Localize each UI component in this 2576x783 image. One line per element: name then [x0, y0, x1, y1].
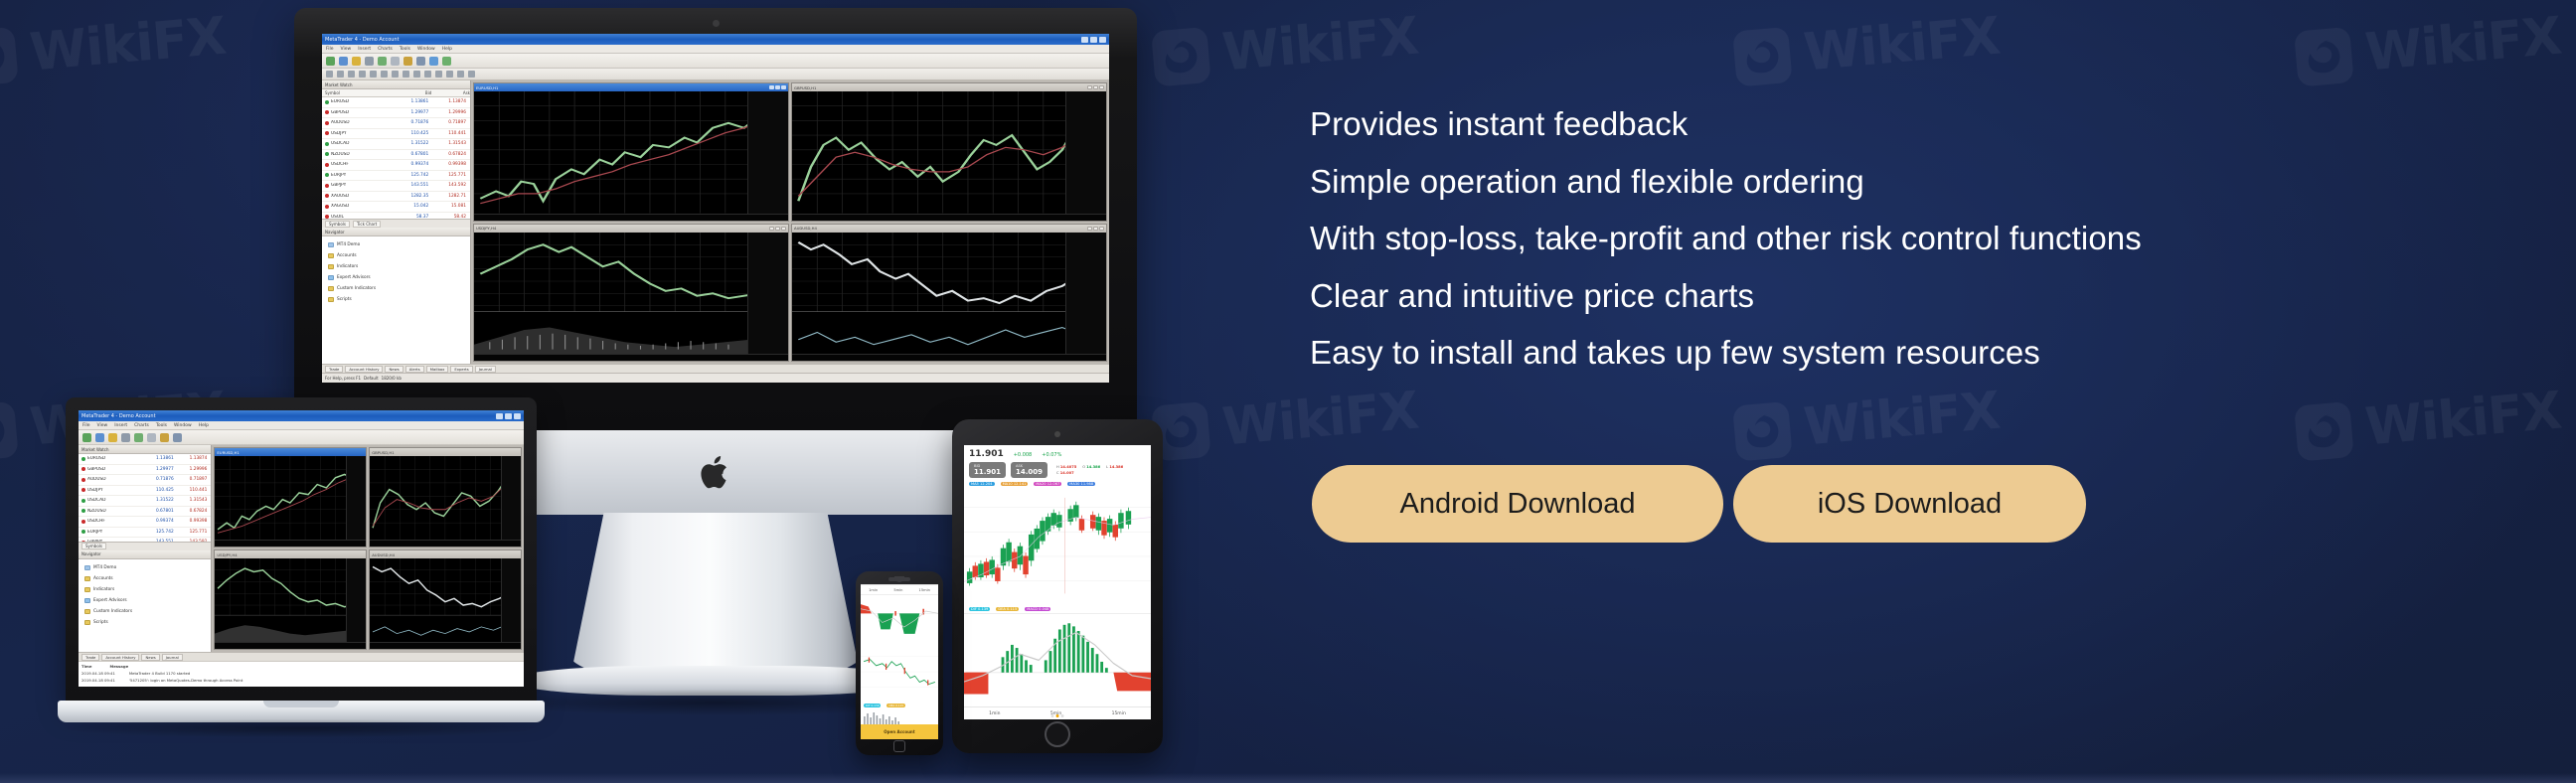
ma30-badge: MA30 11.988: [1067, 482, 1095, 486]
mobile-trading-app: 11.901 +0.008 +0.07% BID 11.901 A: [964, 445, 1151, 719]
nav-label: Indicators: [93, 587, 114, 592]
bid-cell: 1.31522: [142, 498, 177, 503]
window-controls[interactable]: [496, 413, 521, 419]
tab-journal[interactable]: Journal: [162, 654, 183, 661]
dot-active: [1056, 714, 1059, 717]
table-row[interactable]: XAGUSD15.04215.081: [322, 202, 470, 213]
status-profile: Default: [364, 376, 379, 381]
change-percent: +0.07%: [1042, 452, 1061, 458]
tab-account-history[interactable]: Account History: [345, 366, 383, 373]
watermark-tile: WikiFX: [2294, 6, 2563, 88]
tab-account-history[interactable]: Account History: [101, 654, 139, 661]
chart-title-bar[interactable]: USDJPY,H4: [474, 225, 788, 233]
candle-chart-icon[interactable]: [424, 71, 431, 78]
chart-title: GBPUSD,H1: [794, 85, 816, 90]
tablet-screen: 11.901 +0.008 +0.07% BID 11.901 A: [964, 445, 1151, 719]
menu-item-help[interactable]: Help: [442, 47, 452, 52]
chart-title: USDJPY,H4: [476, 226, 496, 231]
ask-cell: 1.29996: [431, 110, 470, 115]
tab-journal[interactable]: Journal: [475, 366, 496, 373]
bid-cell: 1282.35: [394, 194, 432, 199]
maximize-icon[interactable]: [1090, 37, 1097, 43]
market-watch-tabs[interactable]: Symbols: [79, 542, 211, 550]
new-order-icon[interactable]: [82, 433, 91, 442]
autotrading-icon[interactable]: [108, 433, 117, 442]
tab-trade[interactable]: Trade: [325, 366, 343, 373]
ask-cell: 0.99398: [177, 519, 212, 524]
menu-item-charts[interactable]: Charts: [134, 423, 149, 428]
nav-label: Custom Indicators: [93, 609, 132, 614]
table-row[interactable]: EURUSD1.138611.13874: [79, 454, 211, 465]
ask-cell: 0.99398: [431, 162, 470, 167]
close-icon[interactable]: [1099, 85, 1104, 89]
market-watch-columns: Symbol Bid Ask: [322, 89, 470, 97]
price-axis: [346, 558, 366, 642]
chart-title: EURUSD,H1: [217, 450, 239, 455]
chart-canvas: [792, 91, 1106, 214]
period-icon[interactable]: [134, 433, 143, 442]
feature-item-4: Clear and intuitive price charts: [1310, 267, 2423, 325]
direction-down-icon: [325, 194, 329, 198]
crosshair-icon[interactable]: [147, 433, 156, 442]
direction-up-icon: [325, 100, 329, 104]
period-icon[interactable]: [378, 57, 387, 66]
home-button[interactable]: [1045, 721, 1070, 747]
nav-item-scripts[interactable]: Scripts: [324, 294, 468, 305]
market-watch-rows[interactable]: EURUSD1.138611.13874 GBPUSD1.299771.2999…: [79, 454, 211, 542]
dea-badge: DEA 0.115: [996, 607, 1019, 611]
nav-item-expert-advisors[interactable]: Expert Advisors: [80, 595, 209, 606]
direction-down-icon: [325, 163, 329, 167]
imac-screen: MetaTrader 4 - Demo Account File View In…: [322, 34, 1109, 383]
symbol-cell: EURUSD: [87, 456, 142, 461]
status-traffic: 1820/0 kb: [382, 376, 402, 381]
mt4-left-dock: Market Watch EURUSD1.138611.13874 GBPUSD…: [79, 445, 212, 652]
table-row[interactable]: USDCAD1.315221.31543: [322, 139, 470, 150]
direction-up-icon: [81, 499, 85, 503]
direction-down-icon: [325, 131, 329, 135]
ios-download-button[interactable]: iOS Download: [1733, 465, 2086, 543]
wikifx-eagle-logo-icon: [2294, 401, 2354, 462]
table-row[interactable]: GBPUSD1.299771.29996: [79, 465, 211, 476]
direction-up-icon: [325, 142, 329, 146]
wikifx-eagle-logo-icon: [2294, 27, 2354, 87]
feature-item-2: Simple operation and flexible ordering: [1310, 153, 2423, 211]
ohlc-stats: H 14.4075 O 14.386 L 14.386 C 14.007: [1056, 465, 1146, 475]
ask-cell: 15.081: [431, 204, 470, 209]
nav-item-indicators[interactable]: Indicators: [324, 261, 468, 272]
nav-item-indicators[interactable]: Indicators: [80, 584, 209, 595]
m5-icon[interactable]: [457, 71, 464, 78]
feature-item-3: With stop-loss, take-profit and other ri…: [1310, 210, 2423, 267]
maximize-icon[interactable]: [775, 227, 780, 231]
chart-title-bar[interactable]: GBPUSD,H1: [792, 83, 1106, 91]
download-button-group: Android Download iOS Download: [1312, 465, 2086, 543]
mt4-menu-bar[interactable]: File View Insert Charts Tools Window Hel…: [79, 421, 524, 430]
symbol-cell: EURJPY: [87, 530, 142, 535]
price-axis: [747, 233, 788, 355]
symbol-cell: NZDUSD: [331, 152, 394, 157]
nav-item-mt4-demo[interactable]: MT4 Demo: [324, 239, 468, 250]
laptop-bezel: MetaTrader 4 - Demo Account File View In…: [66, 397, 537, 703]
mt4-chart-grid: EURUSD,H1: [471, 80, 1109, 364]
market-watch-rows[interactable]: EURUSD1.138611.13874 GBPUSD1.299771.2999…: [322, 97, 470, 219]
chart-window-controls[interactable]: [1087, 85, 1104, 89]
change-absolute: +0.008: [1014, 452, 1033, 458]
ma5-badge: MA5 12.204: [969, 482, 995, 486]
candlestick-chart[interactable]: [964, 488, 1151, 605]
ask-cell: 1.31543: [177, 498, 212, 503]
android-download-button[interactable]: Android Download: [1312, 465, 1723, 543]
menu-item-tools[interactable]: Tools: [400, 47, 410, 52]
chart-window[interactable]: AUDUSD,H4: [791, 224, 1107, 363]
chart-title: EURUSD,H1: [476, 85, 498, 90]
channel-icon[interactable]: [381, 71, 388, 78]
navigator-title: Navigator: [325, 230, 345, 235]
watermark-text: WikiFX: [2363, 381, 2564, 457]
tab-15min[interactable]: 15min: [1112, 711, 1126, 716]
tab-1min[interactable]: 1min: [869, 588, 878, 592]
chart-canvas: [215, 558, 366, 642]
zoom-out-icon[interactable]: [416, 57, 425, 66]
chart-window[interactable]: EURUSD,H1: [473, 82, 789, 222]
terminal-tabs[interactable]: Trade Account History News Alerts Mailbo…: [322, 364, 1109, 373]
wikifx-eagle-logo-icon: [1732, 401, 1793, 462]
bid-cell: 15.042: [394, 204, 432, 209]
device-cluster: MetaTrader 4 - Demo Account File View In…: [0, 0, 1242, 783]
maximize-icon[interactable]: [505, 413, 512, 419]
chart-window[interactable]: USDJPY,H4: [473, 224, 789, 363]
close-icon[interactable]: [1099, 37, 1106, 43]
ask-cell: 143.592: [431, 183, 470, 188]
feature-list: Provides instant feedback Simple operati…: [1310, 95, 2423, 382]
table-row[interactable]: USDCAD1.315221.31543: [79, 496, 211, 507]
ask-cell: 0.71897: [431, 120, 470, 125]
navigator-tree[interactable]: MT4 Demo Accounts Indicators Expert Advi…: [79, 559, 211, 653]
zoom-in-icon[interactable]: [160, 433, 169, 442]
charts-icon[interactable]: [95, 433, 104, 442]
chart-title-bar[interactable]: AUDUSD,H4: [792, 225, 1106, 233]
chart-window-controls[interactable]: [769, 85, 786, 89]
folder-icon: [84, 598, 90, 603]
nav-item-accounts[interactable]: Accounts: [324, 250, 468, 261]
market-watch-title: Market Watch: [81, 447, 108, 452]
dot-inactive: [1061, 714, 1064, 717]
indicators-icon[interactable]: [365, 57, 374, 66]
table-row[interactable]: AUDUSD0.718760.71897: [322, 118, 470, 129]
watermark-text: WikiFX: [1802, 381, 2003, 457]
crosshair-icon[interactable]: [391, 57, 400, 66]
ask-cell: 0.67824: [177, 509, 212, 514]
line-chart-icon[interactable]: [435, 71, 442, 78]
zoom-out-icon[interactable]: [173, 433, 182, 442]
direction-down-icon: [81, 478, 85, 482]
chart-canvas: [370, 456, 521, 540]
macd-histogram[interactable]: [861, 594, 938, 641]
tab-tick-chart[interactable]: Tick Chart: [353, 221, 381, 228]
symbol-cell: NZDUSD: [87, 509, 142, 514]
nav-label: MT4 Demo: [337, 242, 360, 247]
menu-item-charts[interactable]: Charts: [378, 47, 393, 52]
expert-advisor-icon[interactable]: [442, 57, 451, 66]
tab-mailbox[interactable]: Mailbox: [426, 366, 449, 373]
menu-item-insert[interactable]: Insert: [358, 47, 371, 52]
ask-cell: 0.67824: [431, 152, 470, 157]
chart-title-bar[interactable]: GBPUSD,H1: [370, 448, 521, 456]
nav-label: Custom Indicators: [337, 286, 376, 291]
table-row[interactable]: NZDUSD0.678010.67824: [322, 150, 470, 161]
table-row[interactable]: NZDUSD0.678010.67824: [79, 507, 211, 518]
table-row[interactable]: AUDUSD0.718760.71897: [79, 475, 211, 486]
bid-cell: 1.13861: [142, 456, 177, 461]
new-order-icon[interactable]: [326, 57, 335, 66]
nav-item-mt4-demo[interactable]: MT4 Demo: [80, 562, 209, 573]
direction-down-icon: [325, 121, 329, 125]
chart-window[interactable]: USDJPY,H4: [214, 549, 367, 650]
table-row[interactable]: USDCHF0.993740.99398: [322, 160, 470, 171]
nav-item-expert-advisors[interactable]: Expert Advisors: [324, 272, 468, 283]
mt4-menu-bar[interactable]: File View Insert Charts Tools Window Hel…: [322, 45, 1109, 54]
zoom-in-icon[interactable]: [403, 57, 412, 66]
nav-label: Accounts: [337, 253, 357, 258]
trendline-icon[interactable]: [348, 71, 355, 78]
mt4-toolbar[interactable]: [79, 430, 524, 445]
minimize-icon[interactable]: [1081, 37, 1088, 43]
tab-trade[interactable]: Trade: [81, 654, 99, 661]
nav-item-custom-indicators[interactable]: Custom Indicators: [324, 283, 468, 294]
window-controls[interactable]: [1081, 37, 1106, 43]
feature-item-1: Provides instant feedback: [1310, 95, 2423, 153]
price-axis: [1065, 233, 1106, 355]
charts-icon[interactable]: [339, 57, 348, 66]
tablet-device: 11.901 +0.008 +0.07% BID 11.901 A: [952, 419, 1163, 753]
table-row[interactable]: GBPJPY143.551143.592: [322, 181, 470, 192]
cursor-icon[interactable]: [326, 71, 333, 78]
minimize-icon[interactable]: [1087, 85, 1092, 89]
status-help: For Help, press F1: [325, 376, 361, 381]
menu-item-insert[interactable]: Insert: [114, 423, 127, 428]
log-message: '5471205': login on MetaQuotes-Demo thro…: [129, 678, 242, 683]
mt4-line-toolbar[interactable]: [322, 69, 1109, 80]
tab-news[interactable]: News: [141, 654, 159, 661]
ask-cell: 110.441: [177, 488, 212, 493]
stat-close: C 14.007: [1056, 471, 1074, 475]
bid-cell: 143.551: [394, 183, 432, 188]
tab-experts[interactable]: Experts: [450, 366, 472, 373]
feature-item-5: Easy to install and takes up few system …: [1310, 324, 2423, 382]
time-axis: [215, 642, 366, 649]
ma10-badge: MA10 12.141: [1001, 482, 1029, 486]
menu-item-file[interactable]: File: [82, 423, 90, 428]
price-axis: [1065, 91, 1106, 214]
vline-icon[interactable]: [370, 71, 377, 78]
table-row[interactable]: XAUUSD1282.351282.71: [322, 192, 470, 203]
indicators-icon[interactable]: [121, 433, 130, 442]
menu-item-help[interactable]: Help: [199, 423, 209, 428]
bid-cell: 110.425: [142, 488, 177, 493]
nav-item-accounts[interactable]: Accounts: [80, 573, 209, 584]
menu-item-window[interactable]: Window: [417, 47, 435, 52]
chart-canvas: [474, 233, 788, 355]
text-tool-icon[interactable]: [402, 71, 409, 78]
chart-window[interactable]: GBPUSD,H1: [791, 82, 1107, 222]
market-watch-tabs[interactable]: Symbols Tick Chart: [322, 219, 470, 228]
direction-up-icon: [81, 509, 85, 513]
current-price: 11.901: [969, 449, 1004, 459]
log-time: 2019.04.18 09:41: [81, 678, 115, 683]
chart-window-controls[interactable]: [769, 227, 786, 231]
menu-item-view[interactable]: View: [341, 47, 352, 52]
chart-title: AUDUSD,H4: [794, 226, 817, 231]
ask-box[interactable]: ASK 14.009: [1011, 462, 1047, 478]
symbol-cell: USDCHF: [331, 162, 394, 167]
open-account-button[interactable]: Open Account: [861, 724, 938, 739]
nav-item-scripts[interactable]: Scripts: [80, 617, 209, 628]
navigator-title: Navigator: [81, 551, 101, 556]
table-row[interactable]: EURUSD1.138611.13874: [322, 97, 470, 108]
stat-high: H 14.4075: [1056, 465, 1076, 469]
terminal-tabs[interactable]: Trade Account History News Journal: [79, 652, 524, 661]
macd-histogram[interactable]: [964, 613, 1151, 706]
dif-badge: DIF 0.139: [969, 607, 990, 611]
chart-title-bar[interactable]: EURUSD,H1: [474, 83, 788, 91]
bid-cell: 1.31522: [394, 141, 432, 146]
close-icon[interactable]: [781, 85, 786, 89]
direction-up-icon: [325, 173, 329, 177]
tab-5min[interactable]: 5min: [893, 588, 902, 592]
laptop-shadow: [64, 719, 539, 737]
chart-window[interactable]: EURUSD,H1: [214, 447, 367, 548]
time-axis: [370, 642, 521, 649]
symbol-cell: EURJPY: [331, 173, 394, 178]
nav-label: Scripts: [93, 620, 108, 625]
table-row[interactable]: EURJPY125.742125.771: [322, 171, 470, 182]
home-button[interactable]: [893, 740, 905, 752]
watermark-text: WikiFX: [1802, 6, 2003, 82]
mt4-toolbar[interactable]: [322, 54, 1109, 69]
terminal-log: Time Message 2019.04.18 09:41 MetaTrader…: [79, 661, 524, 687]
ask-cell: 1.29996: [177, 467, 212, 472]
table-row[interactable]: USDJPY110.425110.441: [322, 129, 470, 140]
dot-inactive: [1051, 714, 1054, 717]
symbol-cell: GBPUSD: [331, 110, 394, 115]
hline-icon[interactable]: [359, 71, 366, 78]
time-axis: [215, 540, 366, 547]
nav-label: Indicators: [337, 264, 358, 269]
laptop-notebook: MetaTrader 4 - Demo Account File View In…: [58, 397, 545, 747]
timeframe-tabs[interactable]: 1min 5min 15min: [964, 706, 1151, 719]
navigator-tree[interactable]: MT4 Demo Accounts Indicators Expert Advi…: [322, 236, 470, 364]
folder-icon: [328, 297, 334, 302]
bid-cell: 0.71876: [142, 477, 177, 482]
direction-down-icon: [81, 467, 85, 471]
table-row[interactable]: USDJPY110.425110.441: [79, 486, 211, 497]
crosshair-tool-icon[interactable]: [337, 71, 344, 78]
dea-badge: DEA 0.115: [886, 704, 905, 707]
symbol-cell: GBPUSD: [87, 467, 142, 472]
direction-up-icon: [325, 152, 329, 156]
maximize-icon[interactable]: [775, 85, 780, 89]
table-row[interactable]: USDCHF0.993740.99398: [79, 517, 211, 528]
tablet-bezel: 11.901 +0.008 +0.07% BID 11.901 A: [952, 419, 1163, 753]
direction-down-icon: [81, 488, 85, 492]
tab-1min[interactable]: 1min: [989, 711, 1000, 716]
m1-icon[interactable]: [446, 71, 453, 78]
folder-icon: [328, 264, 334, 269]
chart-window-controls[interactable]: [1087, 227, 1104, 231]
close-icon[interactable]: [781, 227, 786, 231]
promo-banner: WikiFX WikiFX WikiFX WikiFX WikiFX: [0, 0, 2576, 783]
menu-item-tools[interactable]: Tools: [156, 423, 167, 428]
chart-window[interactable]: GBPUSD,H1: [369, 447, 522, 548]
menu-item-file[interactable]: File: [326, 47, 334, 52]
h1-icon[interactable]: [468, 71, 475, 78]
maximize-icon[interactable]: [1093, 85, 1098, 89]
folder-icon: [328, 275, 334, 280]
price-axis: [501, 558, 521, 642]
laptop-trackpad-notch: [263, 701, 339, 707]
mt4-workspace: Market Watch Symbol Bid Ask EURUSD1.1386…: [322, 80, 1109, 364]
table-row[interactable]: EURJPY125.742125.771: [79, 528, 211, 539]
tab-symbols[interactable]: Symbols: [81, 543, 106, 549]
wikifx-eagle-logo-icon: [1732, 27, 1793, 87]
tab-alerts[interactable]: Alerts: [405, 366, 424, 373]
price-axis: [747, 91, 788, 214]
sub-indicator-legend: DIF 0.139 DEA 0.115 MACD 0.048: [964, 605, 1151, 613]
template-icon[interactable]: [429, 57, 438, 66]
bar-chart-icon[interactable]: [413, 71, 420, 78]
autotrading-icon[interactable]: [352, 57, 361, 66]
mt4-window-title: MetaTrader 4 - Demo Account: [325, 37, 400, 43]
folder-icon: [84, 609, 90, 614]
bid-cell: 0.99374: [394, 162, 432, 167]
stat-low: L 14.386: [1106, 465, 1123, 469]
nav-item-custom-indicators[interactable]: Custom Indicators: [80, 606, 209, 617]
column-bid: Bid: [394, 90, 432, 95]
price-line-chart[interactable]: [861, 641, 938, 703]
tab-news[interactable]: News: [385, 366, 402, 373]
maximize-icon[interactable]: [1093, 227, 1098, 231]
minimize-icon[interactable]: [1087, 227, 1092, 231]
page-indicator-dots: [1051, 714, 1064, 717]
folder-icon: [84, 587, 90, 592]
tab-15min[interactable]: 15min: [919, 588, 930, 592]
menu-item-view[interactable]: View: [97, 423, 108, 428]
tab-symbols[interactable]: Symbols: [325, 221, 350, 228]
chart-title-bar[interactable]: EURUSD,H1: [215, 448, 366, 456]
chart-title-bar[interactable]: USDJPY,H4: [215, 550, 366, 558]
smartphone-device: 1min 5min 15min: [856, 571, 943, 755]
table-row[interactable]: GBPUSD1.299771.29996: [322, 108, 470, 119]
menu-item-window[interactable]: Window: [174, 423, 192, 428]
bid-box[interactable]: BID 11.901: [969, 462, 1006, 478]
chart-title-bar[interactable]: AUDUSD,H4: [370, 550, 521, 558]
minimize-icon[interactable]: [496, 413, 503, 419]
mt4-status-bar: For Help, press F1 Default 1820/0 kb: [322, 373, 1109, 383]
close-icon[interactable]: [1099, 227, 1104, 231]
minimize-icon[interactable]: [769, 85, 774, 89]
column-time: Time: [81, 664, 91, 669]
symbol-cell: AUDUSD: [331, 120, 394, 125]
log-message: MetaTrader 4 Build 1170 started: [129, 671, 190, 676]
minimize-icon[interactable]: [769, 227, 774, 231]
symbol-cell: USDCAD: [87, 498, 142, 503]
close-icon[interactable]: [514, 413, 521, 419]
chart-window[interactable]: AUDUSD,H4: [369, 549, 522, 650]
stat-open: O 14.386: [1082, 465, 1100, 469]
fibonacci-icon[interactable]: [392, 71, 399, 78]
timeframe-tabs[interactable]: 1min 5min 15min: [861, 584, 938, 594]
